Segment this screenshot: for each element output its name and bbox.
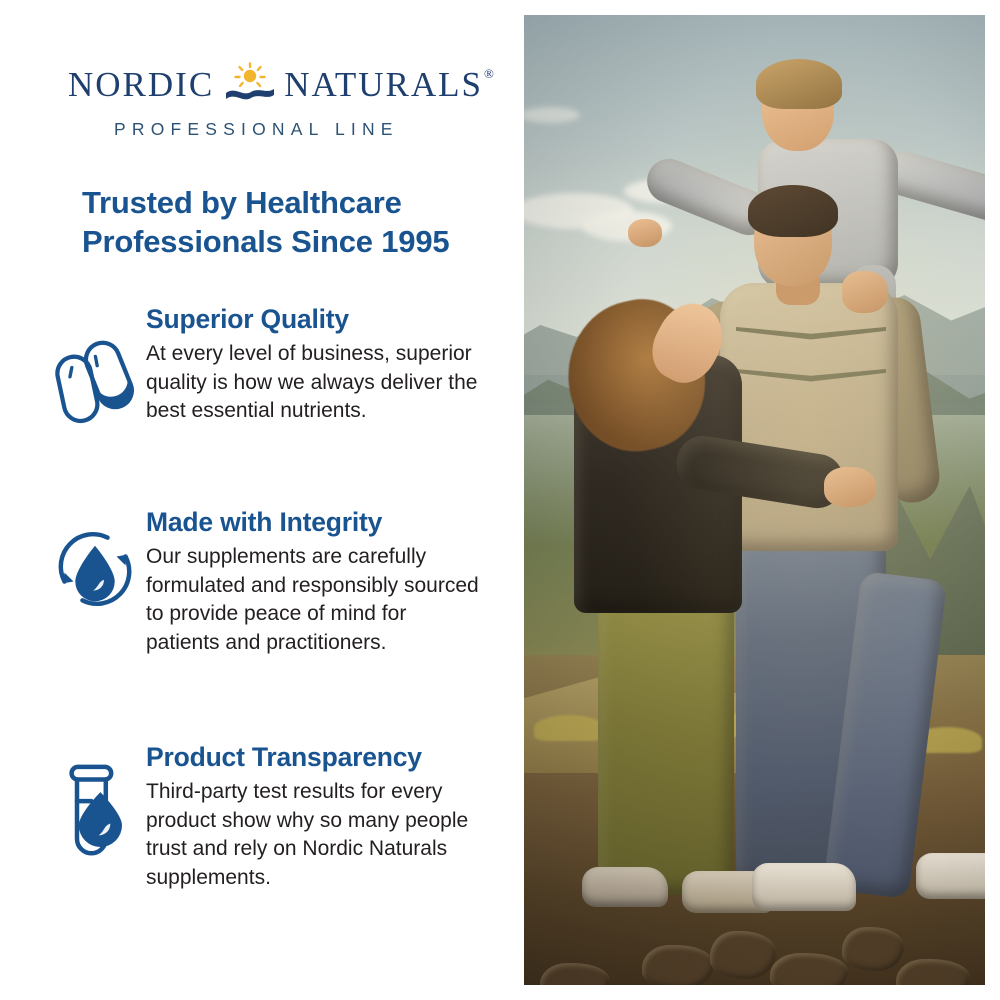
logo-word-nordic: NORDIC	[68, 67, 214, 102]
feature-description: Third-party test results for every produ…	[146, 778, 484, 892]
feature-title: Superior Quality	[146, 305, 484, 334]
feature-body: Made with Integrity Our supplements are …	[146, 508, 484, 657]
woman-hand-on-waist	[824, 467, 876, 507]
rock	[710, 931, 776, 979]
headline-line-2: Professionals Since 1995	[82, 224, 449, 259]
feature-body: Superior Quality At every level of busin…	[146, 305, 484, 426]
marketing-graphic: NORDIC	[0, 0, 1000, 1000]
left-content-column: NORDIC	[0, 0, 500, 1000]
man-hair	[748, 185, 838, 237]
logo-wordmark: NORDIC	[68, 62, 468, 106]
man-vest	[720, 283, 898, 551]
page-title: Trusted by Healthcare Professionals Sinc…	[82, 183, 482, 261]
shoe	[916, 853, 985, 899]
feature-title: Product Transparency	[146, 743, 484, 772]
logo-word-naturals: NATURALS	[284, 67, 483, 102]
logo-tagline: PROFESSIONAL LINE	[114, 119, 468, 140]
sun-over-waves-icon	[224, 62, 276, 106]
brand-logo: NORDIC	[68, 62, 468, 140]
feature-superior-quality: Superior Quality At every level of busin…	[44, 305, 484, 426]
child-hair	[756, 59, 842, 109]
child-hand-left	[628, 219, 662, 247]
registered-trademark-icon: ®	[484, 67, 494, 80]
droplet-in-recycle-cycle-icon	[44, 508, 146, 612]
test-tube-with-droplet-icon	[44, 743, 146, 861]
feature-product-transparency: Product Transparency Third-party test re…	[44, 743, 484, 892]
rock	[842, 927, 904, 971]
shoe	[582, 867, 668, 907]
shoe	[752, 863, 856, 911]
rock	[642, 945, 714, 985]
two-softgel-capsules-icon	[44, 305, 146, 425]
rock	[770, 953, 848, 985]
photo-scene	[524, 15, 985, 985]
man-hand-on-chest	[842, 271, 888, 313]
feature-made-with-integrity: Made with Integrity Our supplements are …	[44, 508, 484, 657]
grass-tuft	[534, 715, 604, 741]
vest-chevron	[736, 327, 886, 340]
feature-description: Our supplements are carefully formulated…	[146, 543, 484, 657]
headline-line-1: Trusted by Healthcare	[82, 185, 402, 220]
feature-body: Product Transparency Third-party test re…	[146, 743, 484, 892]
vest-chevron	[736, 369, 886, 382]
family-outdoors-photo	[524, 15, 985, 985]
woman-pants	[598, 595, 734, 895]
feature-title: Made with Integrity	[146, 508, 484, 537]
feature-description: At every level of business, superior qua…	[146, 340, 484, 426]
